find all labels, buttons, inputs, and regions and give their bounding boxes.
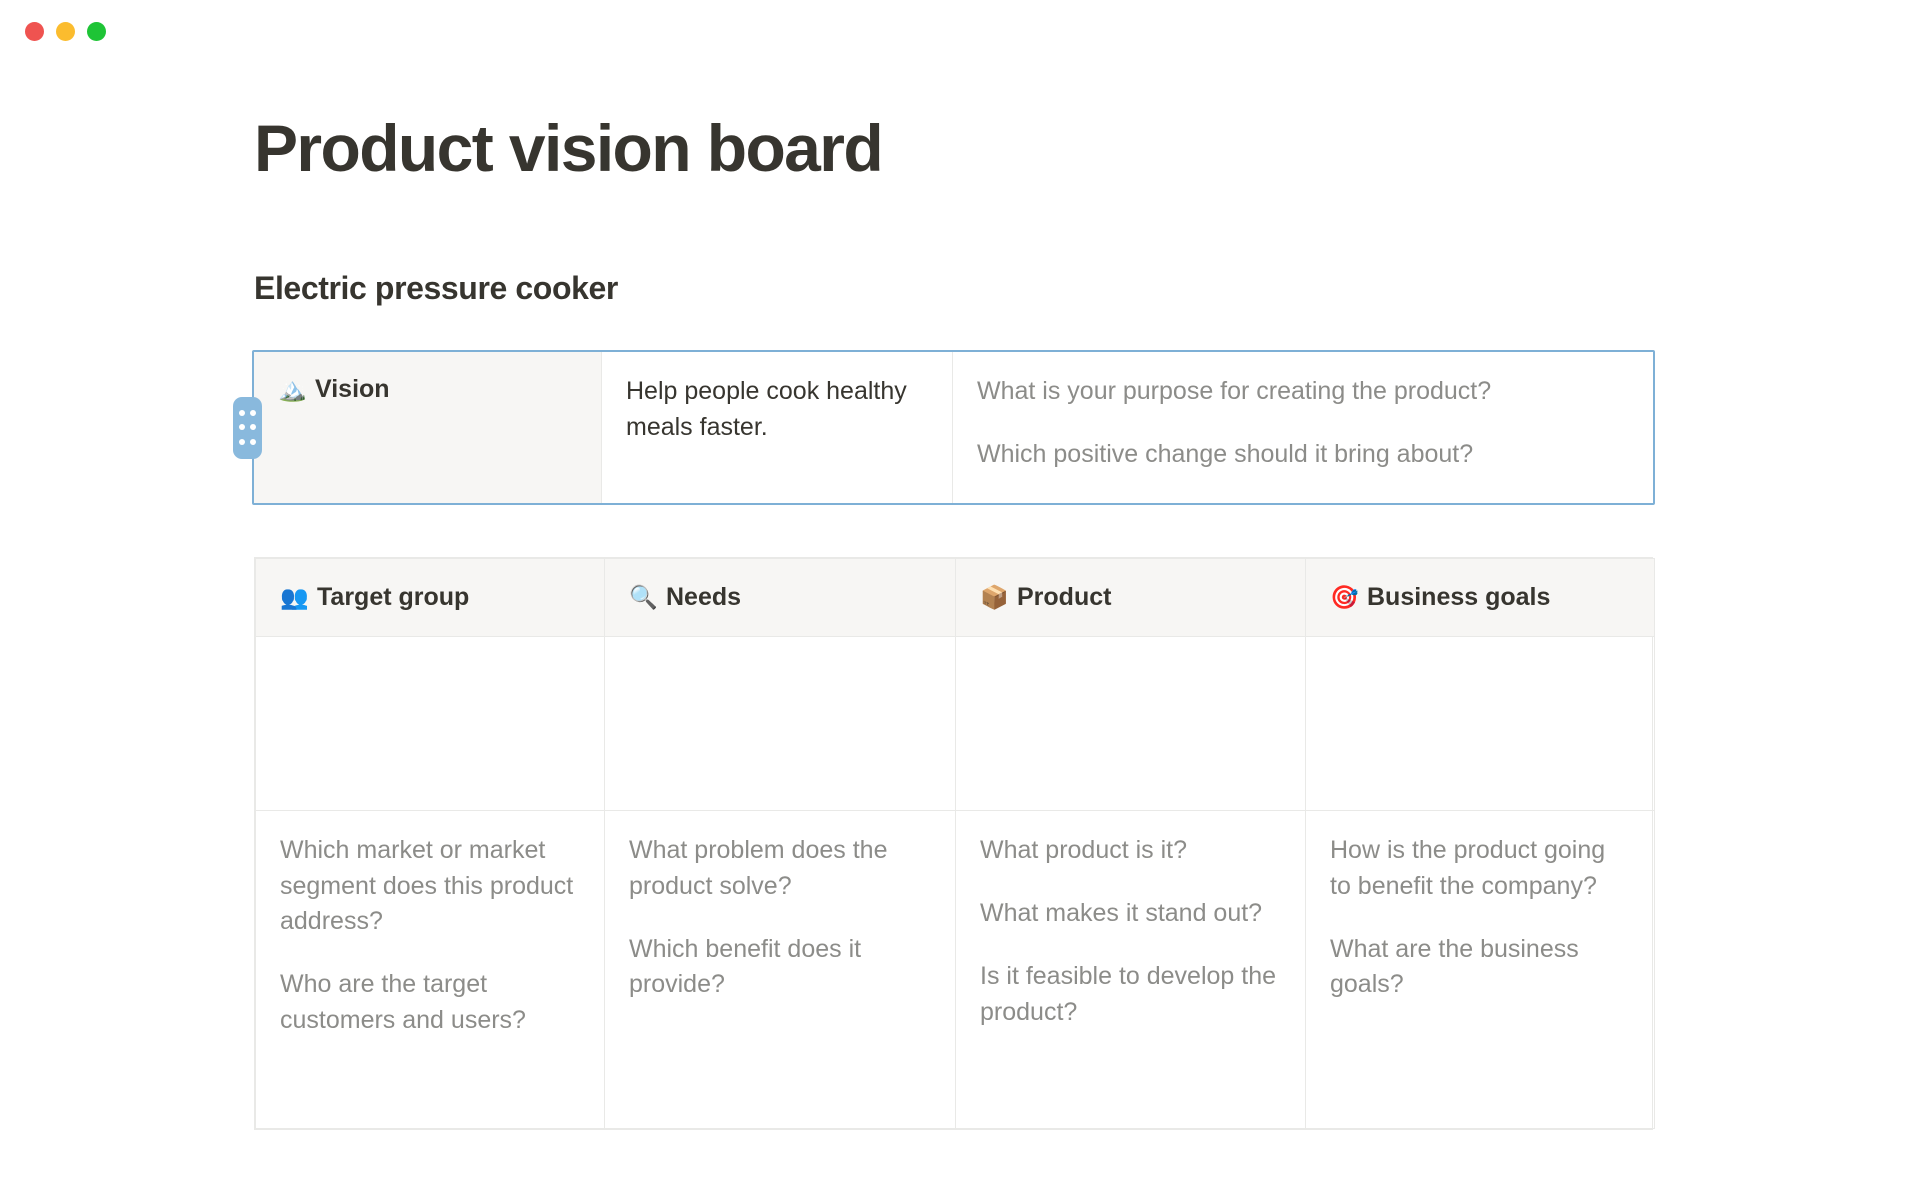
table-row: Which market or market segment does this…	[256, 811, 1655, 1129]
vision-hint-line: Which positive change should it bring ab…	[977, 437, 1629, 473]
vision-value-text: Help people cook healthy meals faster.	[626, 374, 928, 445]
cell-target-group-value[interactable]	[256, 637, 605, 811]
hint-line: Who are the target customers and users?	[280, 967, 580, 1038]
drag-handle-icon[interactable]	[233, 397, 262, 459]
column-header-needs[interactable]: 🔍 Needs	[605, 559, 956, 637]
vision-table-wrapper: 🏔️ Vision Help people cook healthy meals…	[252, 350, 1655, 505]
drag-dot	[250, 424, 256, 430]
cell-needs-hints[interactable]: What problem does the product solve? Whi…	[605, 811, 956, 1129]
close-window-button[interactable]	[25, 22, 44, 41]
direct-hit-icon: 🎯	[1330, 586, 1356, 609]
vision-table[interactable]: 🏔️ Vision Help people cook healthy meals…	[252, 350, 1655, 505]
window-titlebar	[0, 0, 1920, 62]
column-header-target-group[interactable]: 👥 Target group	[256, 559, 605, 637]
column-header-product[interactable]: 📦 Product	[956, 559, 1306, 637]
cell-target-group-hints[interactable]: Which market or market segment does this…	[256, 811, 605, 1129]
drag-dot	[239, 439, 245, 445]
vision-hint-cell[interactable]: What is your purpose for creating the pr…	[953, 352, 1653, 503]
vision-label-cell[interactable]: 🏔️ Vision	[254, 352, 602, 503]
hint-line: What product is it?	[980, 833, 1281, 869]
cell-business-goals-value[interactable]	[1306, 637, 1655, 811]
vision-label-text: Vision	[315, 374, 390, 405]
vision-hint-text: What is your purpose for creating the pr…	[977, 374, 1629, 473]
column-header-label: Needs	[666, 582, 741, 613]
hint-line: What problem does the product solve?	[629, 833, 931, 904]
cell-product-value[interactable]	[956, 637, 1306, 811]
vision-board-table: 👥 Target group 🔍 Needs	[254, 557, 1653, 1130]
page-title: Product vision board	[254, 115, 882, 181]
column-header-label: Product	[1017, 582, 1111, 613]
table-row	[256, 637, 1655, 811]
hint-line: Is it feasible to develop the product?	[980, 959, 1281, 1030]
package-icon: 📦	[980, 586, 1006, 609]
column-header-business-goals[interactable]: 🎯 Business goals	[1306, 559, 1655, 637]
cell-needs-value[interactable]	[605, 637, 956, 811]
cell-business-goals-hints[interactable]: How is the product going to benefit the …	[1306, 811, 1655, 1129]
vision-value-cell[interactable]: Help people cook healthy meals faster.	[602, 352, 953, 503]
hint-line: What makes it stand out?	[980, 896, 1281, 932]
column-header-label: Target group	[317, 582, 469, 613]
hint-line: What are the business goals?	[1330, 932, 1630, 1003]
vision-row-label: 🏔️ Vision	[278, 374, 577, 405]
drag-dot	[250, 410, 256, 416]
magnifying-glass-icon: 🔍	[629, 586, 655, 609]
hint-line: Which benefit does it provide?	[629, 932, 931, 1003]
vision-hint-line: What is your purpose for creating the pr…	[977, 374, 1629, 410]
cell-product-hints[interactable]: What product is it? What makes it stand …	[956, 811, 1306, 1129]
page-subtitle: Electric pressure cooker	[254, 272, 618, 304]
hint-line: How is the product going to benefit the …	[1330, 833, 1630, 904]
maximize-window-button[interactable]	[87, 22, 106, 41]
table-header-row: 👥 Target group 🔍 Needs	[256, 559, 1655, 637]
column-header-label: Business goals	[1367, 582, 1550, 613]
busts-in-silhouette-icon: 👥	[280, 586, 306, 609]
snow-capped-mountain-icon: 🏔️	[278, 378, 304, 401]
hint-line: Which market or market segment does this…	[280, 833, 580, 940]
drag-dot	[250, 439, 256, 445]
drag-dot	[239, 410, 245, 416]
app-window: Product vision board Electric pressure c…	[0, 0, 1920, 1200]
minimize-window-button[interactable]	[56, 22, 75, 41]
drag-dot	[239, 424, 245, 430]
